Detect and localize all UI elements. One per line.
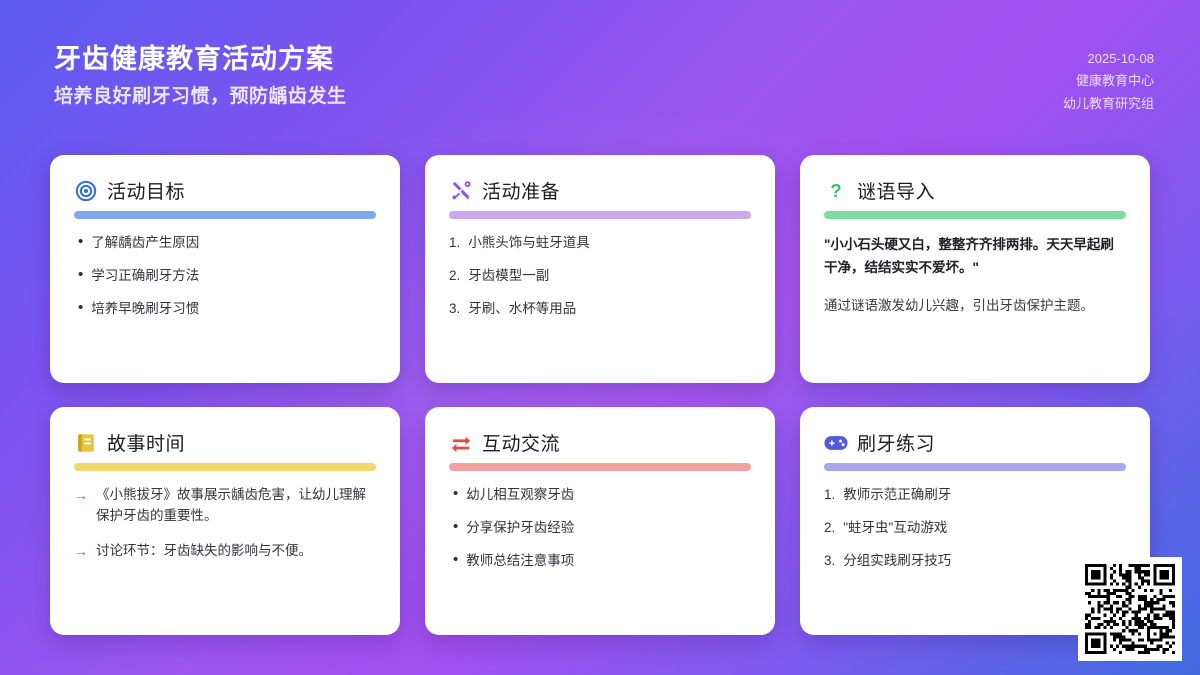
card-accent-bar — [449, 211, 751, 219]
card-accent-bar — [449, 463, 751, 471]
card-activity-preparation: 活动准备1.小熊头饰与蛀牙道具2.牙齿模型一副3.牙刷、水杯等用品 — [425, 155, 775, 383]
card-title: 谜语导入 — [857, 177, 935, 204]
svg-text:?: ? — [830, 180, 841, 201]
exchange-arrows-icon — [449, 431, 473, 455]
list-item: 2."蛀牙虫"互动游戏 — [824, 518, 1126, 539]
arrow-right-icon: → — [74, 485, 88, 505]
list-number: 3. — [449, 299, 460, 320]
bullet-dot: • — [74, 266, 83, 284]
list-item: •教师总结注意事项 — [449, 551, 751, 572]
list-item: •分享保护牙齿经验 — [449, 518, 751, 539]
bullet-dot: • — [74, 299, 83, 317]
list-item-text: 幼儿相互观察牙齿 — [466, 485, 574, 506]
list-number: 3. — [824, 551, 835, 572]
card-title: 互动交流 — [482, 429, 560, 456]
list-item-text: 分组实践刷牙技巧 — [843, 551, 951, 572]
list-item-text: 教师示范正确刷牙 — [843, 485, 951, 506]
list-item: •幼儿相互观察牙齿 — [449, 485, 751, 506]
list-item: →《小熊拔牙》故事展示龋齿危害，让幼儿理解保护牙齿的重要性。 — [74, 485, 376, 527]
card-grid: 活动目标•了解龋齿产生原因•学习正确刷牙方法•培养早晚刷牙习惯活动准备1.小熊头… — [50, 155, 1150, 635]
list-number: 2. — [449, 266, 460, 287]
card-header: 刷牙练习 — [824, 429, 1126, 456]
list-item: •培养早晚刷牙习惯 — [74, 299, 376, 320]
arrow-right-icon: → — [74, 541, 88, 561]
card-accent-bar — [74, 211, 376, 219]
meta-date: 2025-10-08 — [1063, 48, 1154, 70]
qr-code-image — [1085, 564, 1175, 654]
bullet-dot: • — [74, 233, 83, 251]
card-title: 故事时间 — [107, 429, 185, 456]
card-title: 活动准备 — [482, 177, 560, 204]
page-header: 牙齿健康教育活动方案 培养良好刷牙习惯，预防龋齿发生 2025-10-08 健康… — [0, 0, 1200, 115]
card-title: 活动目标 — [107, 177, 185, 204]
card-header: 活动目标 — [74, 177, 376, 204]
tools-icon — [449, 179, 473, 203]
bullet-dot: • — [449, 485, 458, 503]
header-meta: 2025-10-08 健康教育中心 幼儿教育研究组 — [1063, 46, 1154, 115]
card-list: 1.小熊头饰与蛀牙道具2.牙齿模型一副3.牙刷、水杯等用品 — [449, 233, 751, 320]
card-accent-bar — [74, 463, 376, 471]
list-item-text: 牙齿模型一副 — [468, 266, 549, 287]
meta-group: 幼儿教育研究组 — [1063, 93, 1154, 115]
list-item: 1.小熊头饰与蛀牙道具 — [449, 233, 751, 254]
card-interactive-exchange: 互动交流•幼儿相互观察牙齿•分享保护牙齿经验•教师总结注意事项 — [425, 407, 775, 635]
card-activity-goals: 活动目标•了解龋齿产生原因•学习正确刷牙方法•培养早晚刷牙习惯 — [50, 155, 400, 383]
riddle-text: "小小石头硬又白，整整齐齐排两排。天天早起刷干净，结结实实不爱坏。" — [824, 233, 1126, 279]
list-item: •了解龋齿产生原因 — [74, 233, 376, 254]
list-item-text: 分享保护牙齿经验 — [466, 518, 574, 539]
list-item-text: 培养早晚刷牙习惯 — [91, 299, 199, 320]
list-item-text: 了解龋齿产生原因 — [91, 233, 199, 254]
list-item: •学习正确刷牙方法 — [74, 266, 376, 287]
list-item: 2.牙齿模型一副 — [449, 266, 751, 287]
card-title: 刷牙练习 — [857, 429, 935, 456]
list-item-text: "蛀牙虫"互动游戏 — [843, 518, 947, 539]
card-list: •幼儿相互观察牙齿•分享保护牙齿经验•教师总结注意事项 — [449, 485, 751, 572]
page-subtitle: 培养良好刷牙习惯，预防龋齿发生 — [54, 87, 347, 106]
list-item-text: 牙刷、水杯等用品 — [468, 299, 576, 320]
card-accent-bar — [824, 211, 1126, 219]
card-riddle-intro: ?谜语导入"小小石头硬又白，整整齐齐排两排。天天早起刷干净，结结实实不爱坏。"通… — [800, 155, 1150, 383]
title-block: 牙齿健康教育活动方案 培养良好刷牙习惯，预防龋齿发生 — [54, 46, 347, 106]
card-accent-bar — [824, 463, 1126, 471]
list-item-text: 《小熊拔牙》故事展示龋齿危害，让幼儿理解保护牙齿的重要性。 — [96, 485, 376, 527]
list-item: 1.教师示范正确刷牙 — [824, 485, 1126, 506]
list-number: 1. — [449, 233, 460, 254]
card-list: •了解龋齿产生原因•学习正确刷牙方法•培养早晚刷牙习惯 — [74, 233, 376, 320]
page-title: 牙齿健康教育活动方案 — [54, 46, 347, 73]
list-number: 1. — [824, 485, 835, 506]
card-header: 故事时间 — [74, 429, 376, 456]
list-item-text: 小熊头饰与蛀牙道具 — [468, 233, 590, 254]
card-story-time: 故事时间→《小熊拔牙》故事展示龋齿危害，让幼儿理解保护牙齿的重要性。→讨论环节：… — [50, 407, 400, 635]
target-icon — [74, 179, 98, 203]
question-mark-icon: ? — [824, 179, 848, 203]
card-header: 活动准备 — [449, 177, 751, 204]
bullet-dot: • — [449, 518, 458, 536]
list-item-text: 教师总结注意事项 — [466, 551, 574, 572]
list-item: 3.牙刷、水杯等用品 — [449, 299, 751, 320]
meta-organization: 健康教育中心 — [1063, 70, 1154, 92]
card-header: ?谜语导入 — [824, 177, 1126, 204]
bullet-dot: • — [449, 551, 458, 569]
list-item: →讨论环节：牙齿缺失的影响与不便。 — [74, 541, 376, 562]
book-icon — [74, 431, 98, 455]
riddle-note: 通过谜语激发幼儿兴趣，引出牙齿保护主题。 — [824, 295, 1126, 317]
card-header: 互动交流 — [449, 429, 751, 456]
gamepad-icon — [824, 431, 848, 455]
list-item-text: 讨论环节：牙齿缺失的影响与不便。 — [96, 541, 312, 562]
qr-code[interactable] — [1078, 557, 1182, 661]
list-item-text: 学习正确刷牙方法 — [91, 266, 199, 287]
list-number: 2. — [824, 518, 835, 539]
